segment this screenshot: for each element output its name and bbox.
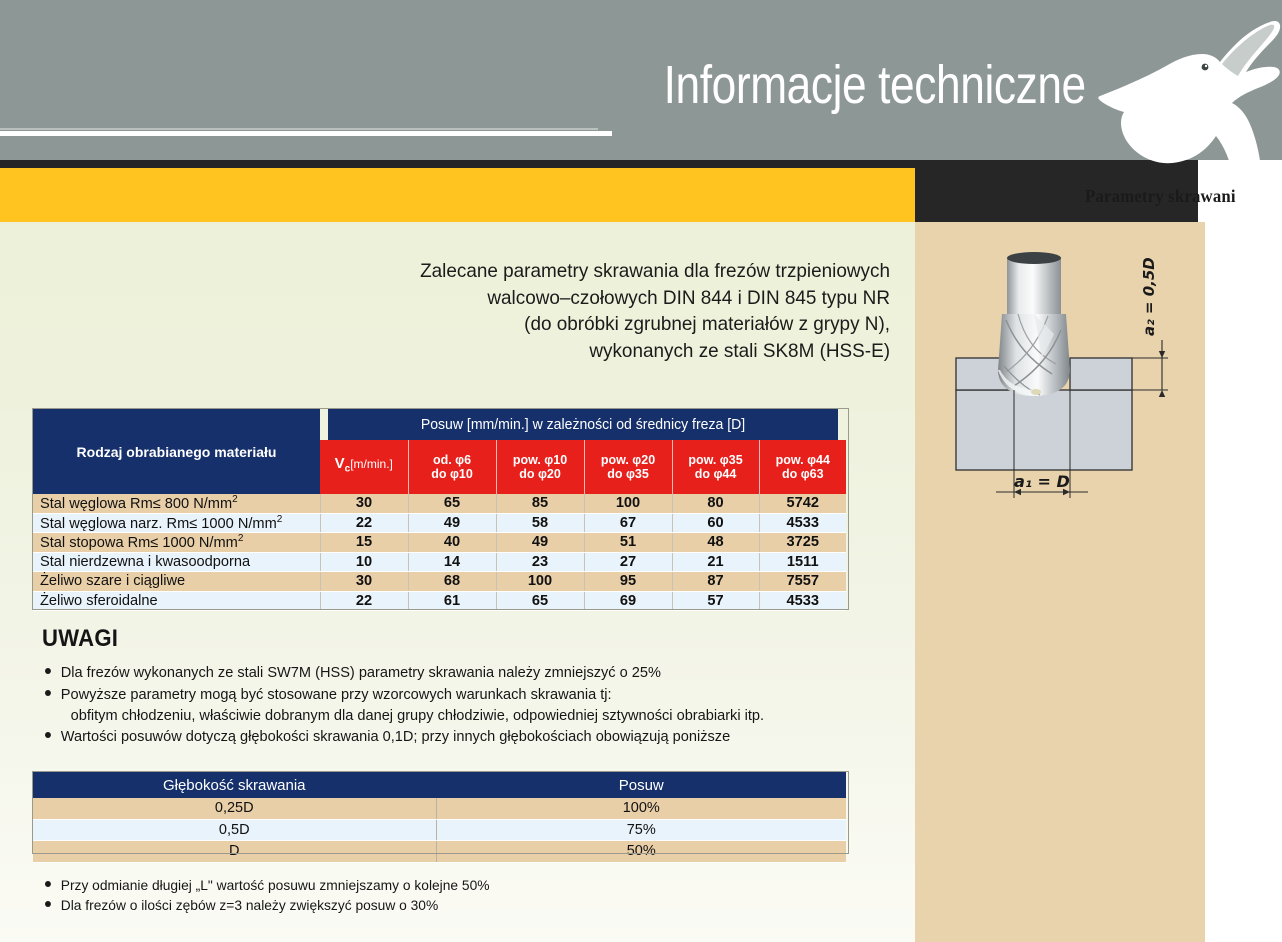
cell-value: 80 — [672, 494, 759, 513]
bullet-icon — [45, 668, 51, 674]
col-header-2: pow. φ10do φ20 — [496, 440, 584, 494]
cell-value: 65 — [496, 591, 584, 611]
intro-line-2: walcowo–czołowych DIN 844 i DIN 845 typu… — [347, 285, 890, 312]
depth-col-header-0: Głębokość skrawania — [33, 772, 436, 798]
top-banner: Informacje techniczne — [0, 0, 1282, 160]
cell-value: 65 — [408, 494, 496, 513]
cell-value: 0,25D — [33, 798, 436, 819]
table-row: Żeliwo sferoidalne22616569574533 — [33, 591, 846, 611]
cell-material: Żeliwo sferoidalne — [33, 591, 320, 611]
table-row: Stal stopowa Rm≤ 1000 N/mm21540495148372… — [33, 533, 846, 553]
cell-value: 57 — [672, 591, 759, 611]
banner-rule-shadow — [0, 128, 598, 130]
cell-value: 4533 — [759, 591, 846, 611]
cell-value: 30 — [320, 494, 408, 513]
section-bar — [0, 168, 915, 222]
note-item: Dla frezów wykonanych ze stali SW7M (HSS… — [45, 663, 892, 684]
bottom-note-item: Dla frezów o ilości zębów z=3 należy zwi… — [45, 896, 833, 915]
note-item: Powyższe parametry mogą być stosowane pr… — [45, 685, 892, 706]
banner-rule — [0, 131, 612, 136]
cell-value: 15 — [320, 533, 408, 553]
cell-value: 87 — [672, 572, 759, 592]
note-text: Wartości posuwów dotyczą głębokości skra… — [61, 729, 730, 745]
cell-material: Stal węglowa Rm≤ 800 N/mm2 — [33, 494, 320, 513]
col-header-4: pow. φ35do φ44 — [672, 440, 759, 494]
intro-line-4: wykonanych ze stali SK8M (HSS-E) — [347, 338, 890, 365]
cell-value: 22 — [320, 513, 408, 533]
cell-value: 27 — [584, 552, 672, 572]
svg-text:a₂ = 0,5D: a₂ = 0,5D — [1140, 257, 1158, 336]
cell-value: 60 — [672, 513, 759, 533]
cell-value: 49 — [408, 513, 496, 533]
cell-value: 4533 — [759, 513, 846, 533]
col-header-5: pow. φ44do φ63 — [759, 440, 846, 494]
cell-value: 48 — [672, 533, 759, 553]
bullet-icon — [45, 901, 51, 907]
cell-value: 85 — [496, 494, 584, 513]
cell-value: 1511 — [759, 552, 846, 572]
bullet-icon — [45, 732, 51, 738]
intro-text: Zalecane parametry skrawania dla frezów … — [347, 258, 890, 364]
cell-material: Stal nierdzewna i kwasoodporna — [33, 552, 320, 572]
cell-value: 22 — [320, 591, 408, 611]
table-row: Żeliwo szare i ciągliwe306810095877557 — [33, 572, 846, 592]
cell-value: 10 — [320, 552, 408, 572]
cell-value: 30 — [320, 572, 408, 592]
cell-material: Stal stopowa Rm≤ 1000 N/mm2 — [33, 533, 320, 553]
cell-value: D — [33, 841, 436, 863]
svg-text:a₁ = D: a₁ = D — [1014, 472, 1070, 491]
cell-value: 100% — [436, 798, 846, 819]
cell-value: 100 — [584, 494, 672, 513]
cell-value: 58 — [496, 513, 584, 533]
note-text: Powyższe parametry mogą być stosowane pr… — [61, 687, 612, 703]
cell-value: 3725 — [759, 533, 846, 553]
bullet-icon — [45, 881, 51, 887]
cell-value: 68 — [408, 572, 496, 592]
depth-feed-table: Głębokość skrawaniaPosuw 0,25D100%0,5D75… — [33, 772, 846, 863]
table-row: Stal węglowa Rm≤ 800 N/mm230658510080574… — [33, 494, 846, 513]
bottom-note-item: Przy odmianie długiej „L" wartość posuwu… — [45, 876, 833, 895]
note-text: Dla frezów wykonanych ze stali SW7M (HSS… — [61, 665, 661, 681]
bottom-note-text: Przy odmianie długiej „L" wartość posuwu… — [61, 877, 490, 893]
note-continuation: obfitym chłodzeniu, właściwie dobranym d… — [45, 706, 892, 727]
cell-value: 23 — [496, 552, 584, 572]
cell-value: 100 — [496, 572, 584, 592]
depth-col-header-1: Posuw — [436, 772, 846, 798]
col-header-0: Vc[m/min.] — [320, 440, 408, 494]
cell-material: Stal węglowa narz. Rm≤ 1000 N/mm2 — [33, 513, 320, 533]
notes-title: UWAGI — [42, 625, 118, 653]
col-group-header: Posuw [mm/min.] w zależności od średnicy… — [328, 409, 838, 440]
bottom-notes-list: Przy odmianie długiej „L" wartość posuwu… — [45, 876, 845, 916]
cell-value: 61 — [408, 591, 496, 611]
end-mill-cutting-diagram: a₂ = 0,5D a₁ = D — [930, 240, 1192, 520]
cell-material: Żeliwo szare i ciągliwe — [33, 572, 320, 592]
table-row: 0,25D100% — [33, 798, 846, 819]
cell-value: 5742 — [759, 494, 846, 513]
cell-value: 75% — [436, 819, 846, 841]
cell-value: 49 — [496, 533, 584, 553]
bullet-icon — [45, 690, 51, 696]
col-header-1: od. φ6do φ10 — [408, 440, 496, 494]
cell-value: 21 — [672, 552, 759, 572]
cell-value: 40 — [408, 533, 496, 553]
bottom-note-text: Dla frezów o ilości zębów z=3 należy zwi… — [61, 897, 438, 913]
cell-value: 69 — [584, 591, 672, 611]
col-header-3: pow. φ20do φ35 — [584, 440, 672, 494]
intro-line-1: Zalecane parametry skrawania dla frezów … — [347, 258, 890, 285]
cell-value: 67 — [584, 513, 672, 533]
cell-value: 50% — [436, 841, 846, 863]
cell-value: 51 — [584, 533, 672, 553]
col-header-material: Rodzaj obrabianego materiału — [33, 409, 320, 494]
note-item: Wartości posuwów dotyczą głębokości skra… — [45, 727, 892, 748]
intro-line-3: (do obróbki zgrubnej materiałów z grypy … — [347, 311, 890, 338]
cutting-parameters-table: Rodzaj obrabianego materiału Posuw [mm/m… — [33, 409, 846, 611]
notes-list: Dla frezów wykonanych ze stali SW7M (HSS… — [45, 663, 905, 748]
table-row: D50% — [33, 841, 846, 863]
table-row: 0,5D75% — [33, 819, 846, 841]
cell-value: 0,5D — [33, 819, 436, 841]
cell-value: 14 — [408, 552, 496, 572]
table-row: Stal nierdzewna i kwasoodporna1014232721… — [33, 552, 846, 572]
page-title: Informacje techniczne — [664, 58, 1086, 112]
cell-value: 7557 — [759, 572, 846, 592]
cell-value: 95 — [584, 572, 672, 592]
table-row: Stal węglowa narz. Rm≤ 1000 N/mm22249586… — [33, 513, 846, 533]
section-title: Parametry skrawania — [1085, 186, 1244, 207]
